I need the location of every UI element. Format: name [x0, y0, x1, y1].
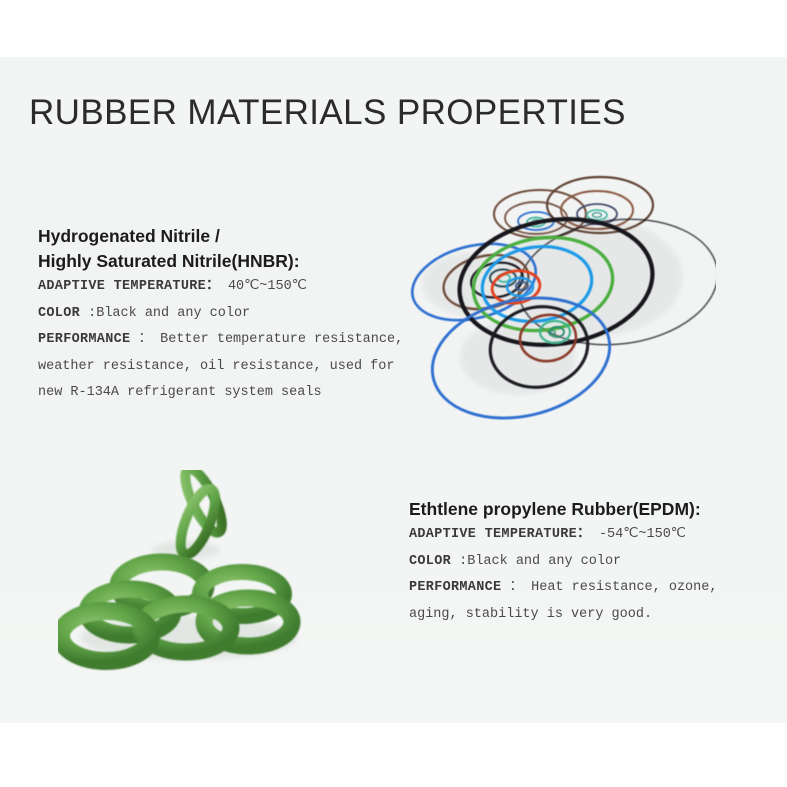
hnbr-color: COLOR :Black and any color: [38, 301, 403, 328]
epdm-heading: Ethtlene propylene Rubber(EPDM):: [409, 497, 717, 522]
epdm-color: COLOR :Black and any color: [409, 549, 717, 576]
hnbr-heading-line-2: Highly Saturated Nitrile(HNBR):: [38, 249, 403, 274]
epdm-color-value: :Black and any color: [459, 554, 621, 569]
hnbr-performance-text-1: ： Better temperature resistance,: [139, 332, 404, 347]
hnbr-heading-line-1: Hydrogenated Nitrile /: [38, 224, 403, 249]
epdm-performance-line-1: PERFORMANCE ： Heat resistance, ozone,: [409, 575, 717, 602]
hnbr-performance-line-3: new R-134A refrigerant system seals: [38, 380, 403, 407]
epdm-color-label: COLOR: [409, 554, 451, 569]
epdm-performance-text-1: ： Heat resistance, ozone,: [510, 580, 718, 595]
hnbr-adaptive-temperature: ADAPTIVE TEMPERATURE： 40℃~150℃: [38, 274, 403, 301]
epdm-performance-line-2: aging, stability is very good.: [409, 602, 717, 629]
hnbr-performance-line-1: PERFORMANCE ： Better temperature resista…: [38, 327, 403, 354]
hnbr-performance-label: PERFORMANCE: [38, 332, 130, 347]
page-root: RUBBER MATERIALS PROPERTIES Hydrogenated…: [0, 0, 787, 787]
hnbr-color-label: COLOR: [38, 306, 80, 321]
material-block-epdm: Ethtlene propylene Rubber(EPDM): ADAPTIV…: [409, 497, 717, 628]
hnbr-color-value: :Black and any color: [88, 306, 250, 321]
green-o-rings-photo: [58, 470, 320, 675]
hnbr-adaptive-temperature-value: 40℃~150℃: [228, 279, 307, 294]
assorted-o-rings-photo: [396, 172, 716, 427]
page-title: RUBBER MATERIALS PROPERTIES: [29, 93, 626, 133]
epdm-adaptive-temperature: ADAPTIVE TEMPERATURE： -54℃~150℃: [409, 522, 717, 549]
epdm-performance-label: PERFORMANCE: [409, 580, 501, 595]
epdm-adaptive-temperature-label: ADAPTIVE TEMPERATURE：: [409, 527, 591, 542]
material-block-hnbr: Hydrogenated Nitrile / Highly Saturated …: [38, 224, 403, 407]
hnbr-performance-line-2: weather resistance, oil resistance, used…: [38, 354, 403, 381]
epdm-adaptive-temperature-value: -54℃~150℃: [599, 527, 686, 542]
hnbr-adaptive-temperature-label: ADAPTIVE TEMPERATURE：: [38, 279, 220, 294]
